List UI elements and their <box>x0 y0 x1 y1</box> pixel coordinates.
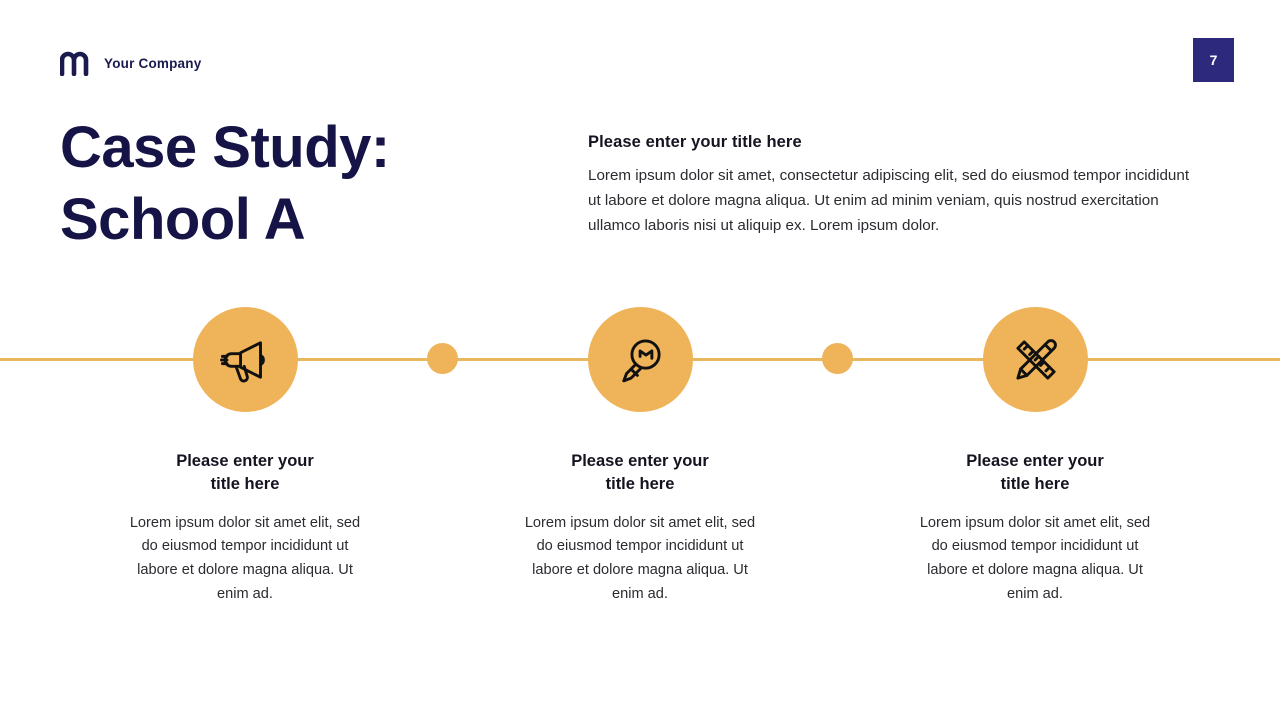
page-number-label: 7 <box>1210 52 1218 68</box>
page-title: Case Study: School A <box>60 112 530 256</box>
page-number-badge: 7 <box>1193 38 1234 82</box>
column-body: Lorem ipsum dolor sit amet elit, sed do … <box>515 512 765 608</box>
timeline-node-1[interactable] <box>193 307 298 412</box>
column-title: Please enter your title here <box>910 450 1160 496</box>
timeline-node-2[interactable] <box>588 307 693 412</box>
timeline-dot-1 <box>427 343 458 374</box>
column-body: Lorem ipsum dolor sit amet elit, sed do … <box>910 512 1160 608</box>
page-title-line-1: Case Study: <box>60 112 530 184</box>
timeline-node-3[interactable] <box>983 307 1088 412</box>
company-m-logo-icon <box>60 50 90 76</box>
intro-body: Lorem ipsum dolor sit amet, consectetur … <box>588 164 1200 238</box>
megaphone-icon <box>217 331 275 389</box>
lightbulb-icon <box>612 331 670 389</box>
column-title-line-2: title here <box>211 475 280 493</box>
timeline-column-1: Please enter your title here Lorem ipsum… <box>120 450 370 607</box>
timeline-column-2: Please enter your title here Lorem ipsum… <box>515 450 765 607</box>
intro-title: Please enter your title here <box>588 133 1200 152</box>
column-title-line-2: title here <box>1001 475 1070 493</box>
timeline-column-3: Please enter your title here Lorem ipsum… <box>910 450 1160 607</box>
column-body: Lorem ipsum dolor sit amet elit, sed do … <box>120 512 370 608</box>
brand-lockup: Your Company <box>60 50 201 76</box>
intro-block: Please enter your title here Lorem ipsum… <box>588 133 1200 238</box>
company-name-label: Your Company <box>104 56 201 71</box>
column-title: Please enter your title here <box>120 450 370 496</box>
column-title-line-1: Please enter your <box>571 452 709 470</box>
slide-canvas: Your Company 7 Case Study: School A Plea… <box>0 0 1280 720</box>
timeline-dot-2 <box>822 343 853 374</box>
column-title-line-1: Please enter your <box>176 452 314 470</box>
page-title-line-2: School A <box>60 184 530 256</box>
pencil-ruler-icon <box>1007 331 1065 389</box>
column-title: Please enter your title here <box>515 450 765 496</box>
column-title-line-2: title here <box>606 475 675 493</box>
column-title-line-1: Please enter your <box>966 452 1104 470</box>
